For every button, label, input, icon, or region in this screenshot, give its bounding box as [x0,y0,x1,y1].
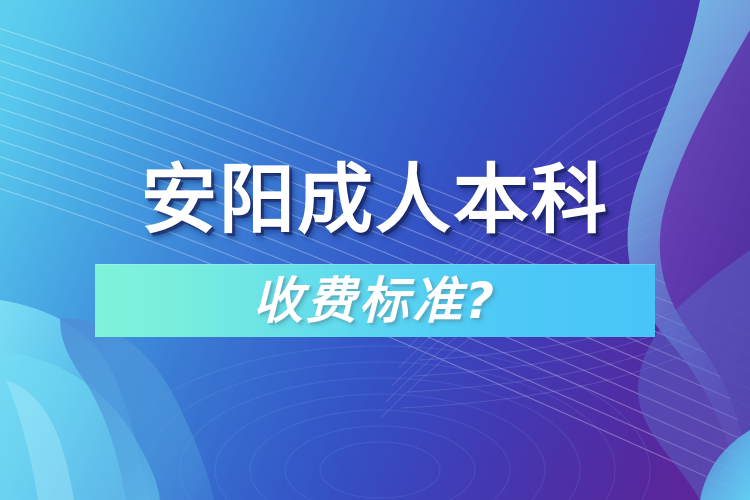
title-block: 安阳成人本科 收费标准? [0,0,750,500]
promo-banner: 安阳成人本科 收费标准? [0,0,750,500]
subtitle-bar: 收费标准? [95,264,655,337]
subtitle-text: 收费标准? [95,272,655,330]
page-title: 安阳成人本科 [0,152,750,248]
